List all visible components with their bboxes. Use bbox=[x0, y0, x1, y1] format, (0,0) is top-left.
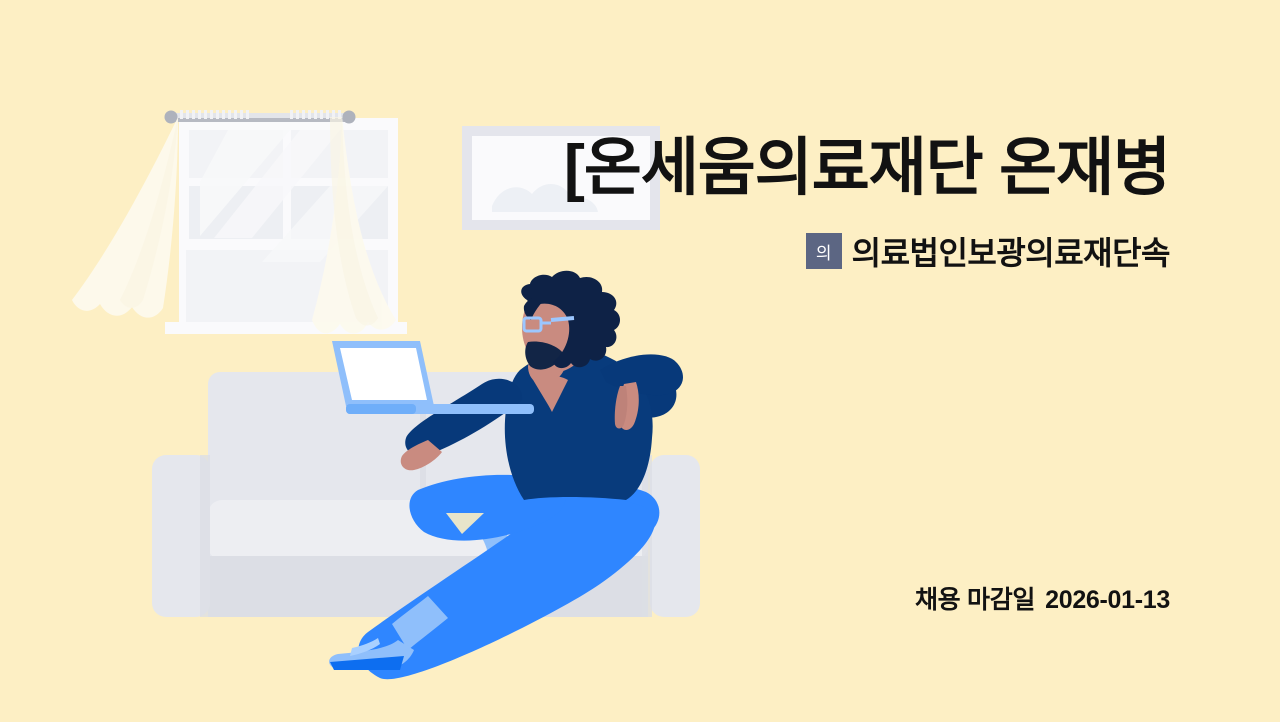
laptop-screen bbox=[340, 348, 427, 400]
sofa-arm-right bbox=[650, 455, 700, 617]
curtain-rod-cap-right bbox=[343, 111, 356, 124]
glasses-temple bbox=[551, 318, 574, 320]
illustration-person-with-laptop bbox=[0, 0, 1280, 722]
job-posting-poster: [온세움의료재단 온재병 의 의료법인보광의료재단속 채용 마감일2026-01… bbox=[0, 0, 1280, 722]
sofa-arm-left-shadow bbox=[200, 455, 210, 617]
picture-frame-group bbox=[462, 126, 660, 230]
laptop-base-front bbox=[346, 404, 416, 414]
curtain-rod-cap-left bbox=[165, 111, 178, 124]
